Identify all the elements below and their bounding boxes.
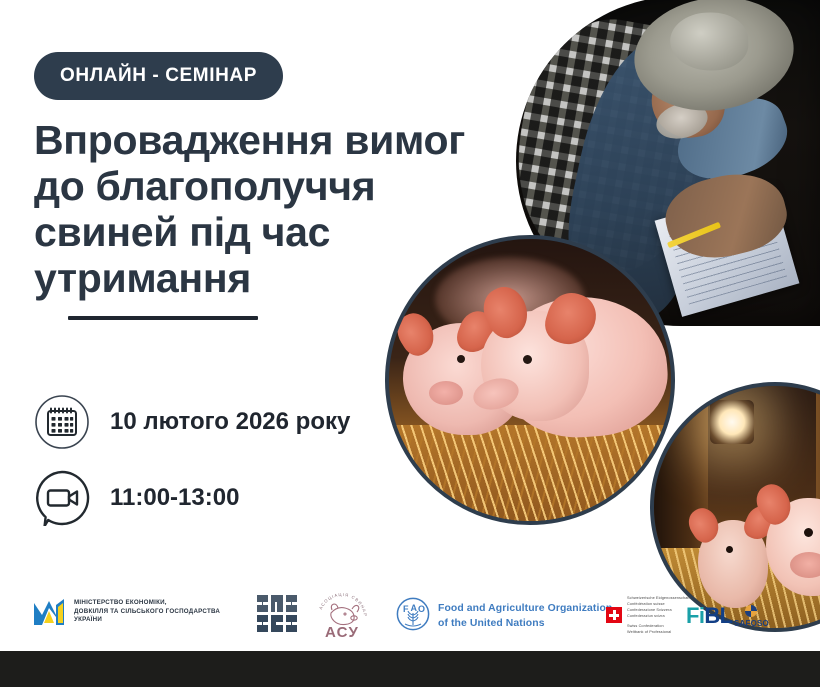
straw-bedding xyxy=(385,425,675,525)
swiss-line-5: Swiss Confederation xyxy=(627,624,664,628)
asu-pig-emblem-icon: АСОЦІАЦІЯ СВИНАРІВ УКРАЇНИ АСУ xyxy=(314,591,370,643)
partner-logo-strip: МІНІСТЕРСТВО ЕКОНОМІКИ, ДОВКІЛЛЯ ТА СІЛЬ… xyxy=(0,591,820,649)
ministry-emblem-icon xyxy=(32,597,66,627)
barn-piglet-right-snout xyxy=(790,552,820,578)
safoso-wordmark: SAFOSO xyxy=(734,619,769,628)
piglet-left-eye xyxy=(457,355,465,363)
logo-safoso: SAFOSO xyxy=(734,605,769,628)
barn-piglet-left-eye xyxy=(726,546,733,553)
swiss-confederation-name: Schweizerische Eidgenossenschaft Confédé… xyxy=(627,595,690,635)
svg-text:АСУ: АСУ xyxy=(325,624,359,641)
dpss-mark-icon xyxy=(256,593,298,635)
svg-text:АСОЦІАЦІЯ СВИНАРІВ УКРАЇНИ: АСОЦІАЦІЯ СВИНАРІВ УКРАЇНИ xyxy=(314,591,368,617)
event-time-row: 11:00-13:00 xyxy=(34,470,239,526)
swiss-cross-icon xyxy=(606,607,622,623)
ministry-name: МІНІСТЕРСТВО ЕКОНОМІКИ, ДОВКІЛЛЯ ТА СІЛЬ… xyxy=(74,599,220,626)
logo-fao: F A O Food and Agriculture Organization … xyxy=(396,597,612,636)
fao-emblem-icon: F A O xyxy=(396,597,430,636)
swiss-line-6: Weltbank of Professional xyxy=(627,630,671,634)
barn-window-light xyxy=(710,400,754,444)
piglet-left-snout xyxy=(429,381,463,405)
fibl-wordmark: FiBL xyxy=(686,603,733,629)
logo-asu: АСОЦІАЦІЯ СВИНАРІВ УКРАЇНИ АСУ xyxy=(314,591,370,643)
event-type-badge: ОНЛАЙН - СЕМІНАР xyxy=(34,52,283,100)
video-camera-icon xyxy=(34,470,90,526)
logo-ministry-of-economy-ukraine: МІНІСТЕРСТВО ЕКОНОМІКИ, ДОВКІЛЛЯ ТА СІЛЬ… xyxy=(32,597,220,627)
fibl-part-2: BL xyxy=(704,603,732,628)
event-date-value: 10 лютого 2026 року xyxy=(110,408,350,436)
fao-line-1: Food and Agriculture Organization xyxy=(438,603,612,614)
ministry-line-3: УКРАЇНИ xyxy=(74,616,102,623)
swiss-line-2: Confédération suisse xyxy=(627,602,665,606)
calendar-icon xyxy=(34,394,90,450)
swiss-line-1: Schweizerische Eidgenossenschaft xyxy=(627,596,690,600)
svg-text:A: A xyxy=(411,603,418,613)
swiss-line-3: Confederazione Svizzera xyxy=(627,608,672,612)
safoso-mark-icon xyxy=(745,605,757,617)
bottom-bar xyxy=(0,651,820,687)
event-date-row: 10 лютого 2026 року xyxy=(34,394,350,450)
logo-dpss xyxy=(256,593,298,635)
fao-name: Food and Agriculture Organization of the… xyxy=(438,602,612,630)
page-title: Впровадження вимог до благополуччя свине… xyxy=(34,118,504,302)
svg-text:O: O xyxy=(418,604,425,614)
fao-line-2: of the United Nations xyxy=(438,618,545,629)
event-time-value: 11:00-13:00 xyxy=(110,484,239,512)
swiss-line-4: Confederaziun svizra xyxy=(627,614,665,618)
ministry-line-2: ДОВКІЛЛЯ ТА СІЛЬСЬКОГО ГОСПОДАРСТВА xyxy=(74,608,220,615)
webinar-poster: ОНЛАЙН - СЕМІНАР Впровадження вимог до б… xyxy=(0,0,820,687)
fibl-part-1: Fi xyxy=(686,603,704,628)
logo-swiss-confederation: Schweizerische Eidgenossenschaft Confédé… xyxy=(606,595,690,635)
barn-piglet-right-eye xyxy=(804,528,813,537)
title-divider xyxy=(68,316,258,320)
ministry-line-1: МІНІСТЕРСТВО ЕКОНОМІКИ, xyxy=(74,599,167,606)
logo-fibl: FiBL xyxy=(686,603,733,629)
piglet-right-eye xyxy=(523,355,532,364)
svg-text:F: F xyxy=(403,604,409,614)
